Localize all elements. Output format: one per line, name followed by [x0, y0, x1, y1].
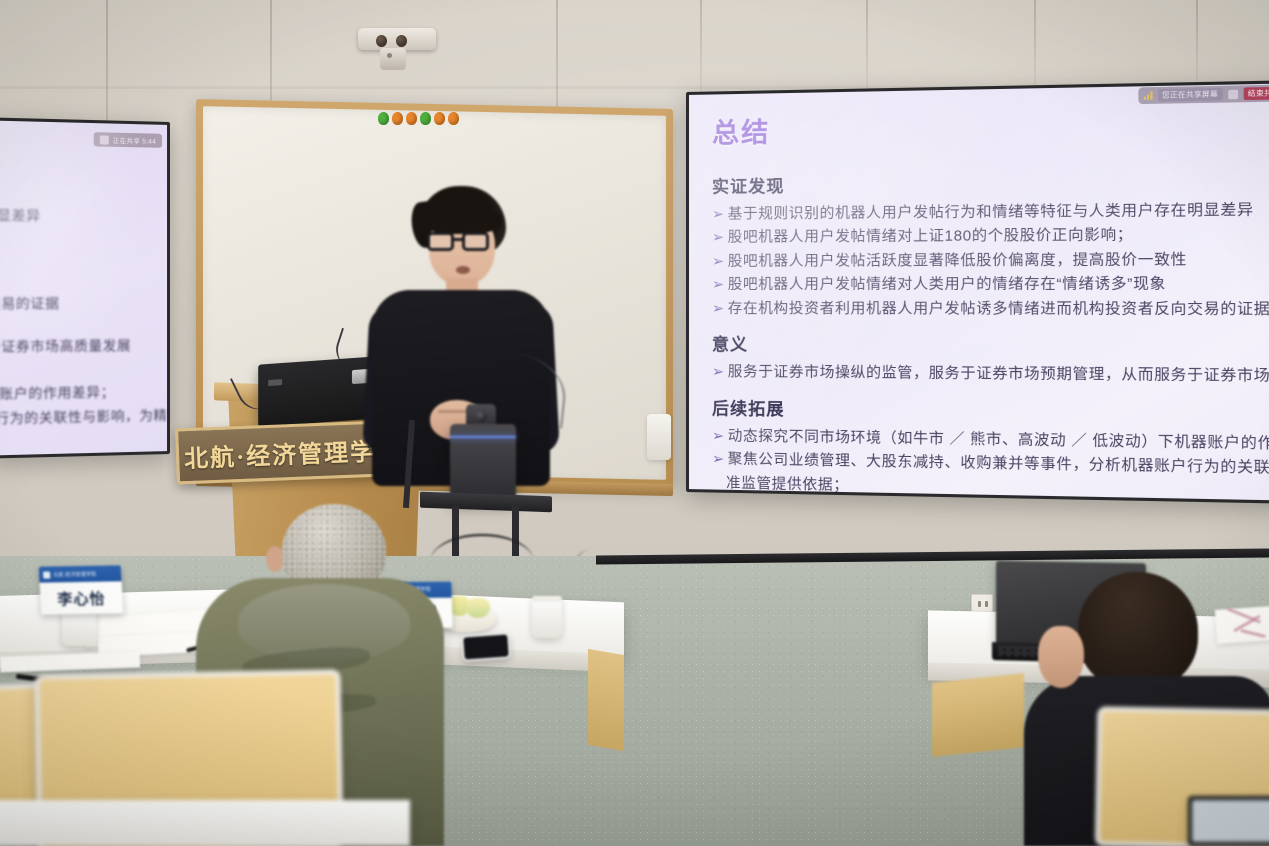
slide-bullet: ➢服务于证券市场操纵的监管，服务于证券市场预期管理，从而服务于证券市场 — [712, 362, 1269, 391]
tablet-device[interactable] — [1188, 796, 1269, 846]
presenter-fringe — [422, 204, 502, 234]
attendee-hand — [1038, 626, 1084, 688]
paper-cup[interactable] — [532, 596, 562, 638]
attendee-head — [1078, 572, 1198, 690]
slide-heading: 后续拓展 — [712, 394, 1269, 426]
magnet-icon[interactable] — [448, 112, 459, 125]
name-placard: 北航 经济管理学院 李心怡 — [39, 565, 124, 614]
slide-bullet: ➢基于规则识别的机器人用户发帖行为和情绪等特征与人类用户存在明显差异 — [712, 199, 1269, 228]
magnet-icon[interactable] — [392, 112, 403, 125]
slide-bullet: ➢股吧机器人用户发帖情绪对上证180的个股股价正向影响； — [712, 224, 1269, 251]
stop-share-button[interactable]: 结束共享 — [1243, 87, 1269, 100]
power-outlet[interactable] — [971, 594, 993, 612]
left-share-label: 正在共享 5:44 — [113, 135, 156, 146]
foreground-desk — [0, 800, 410, 846]
whiteboard-magnets[interactable] — [378, 112, 459, 125]
magnet-icon[interactable] — [434, 112, 445, 125]
left-slide-fragment: 向交易的证据 — [0, 292, 60, 313]
slide-bullet-text: 股吧机器人用户发帖活跃度显著降低股价偏离度，提高股价一致性 — [728, 252, 1187, 270]
slide-bullet-text: 服务于证券市场操纵的监管，服务于证券市场预期管理，从而服务于证券市场 — [728, 365, 1269, 386]
slide-bullet-text: 存在机构投资者利用机器人用户发帖诱多情绪进而机构投资者反向交易的证据 — [728, 301, 1269, 318]
bullet-marker-icon: ➢ — [712, 365, 725, 381]
eyeglasses-icon — [462, 232, 489, 251]
left-slide-fragment: 明显差异 — [0, 204, 41, 225]
placard-org-bar: 北航 经济管理学院 — [39, 565, 122, 583]
slide-heading: 意义 — [712, 331, 1269, 360]
slide-heading: 实证发现 — [712, 166, 1269, 198]
share-status-label: 您正在共享屏幕 — [1158, 88, 1223, 102]
screen-share-indicator[interactable]: 您正在共享屏幕 结束共享 — [1138, 84, 1269, 104]
eyeglasses-bridge — [454, 238, 464, 241]
slide-bullet-text: 股吧机器人用户发帖情绪对人类用户的情绪存在“情绪诱多”现象 — [728, 277, 1166, 294]
bullet-marker-icon: ➢ — [712, 301, 725, 317]
bullet-marker-icon: ➢ — [712, 230, 725, 246]
desk-wood-panel — [588, 649, 624, 751]
smartphone[interactable] — [461, 632, 511, 661]
right-desk-panel — [932, 673, 1024, 757]
bullet-marker-icon: ➢ — [712, 452, 725, 468]
slide-body: 总结 实证发现 ➢基于规则识别的机器人用户发帖行为和情绪等特征与人类用户存在明显… — [712, 95, 1269, 498]
camera-mount — [380, 48, 406, 70]
eyeglasses-icon — [427, 232, 454, 251]
main-projection-screen: 您正在共享屏幕 结束共享 总结 实证发现 ➢基于规则识别的机器人用户发帖行为和情… — [686, 80, 1269, 504]
ceiling-camera — [358, 28, 436, 72]
pastry — [466, 598, 490, 618]
laptop-logo-icon — [268, 379, 282, 386]
magnet-icon[interactable] — [406, 112, 417, 125]
bullet-marker-icon: ➢ — [712, 254, 725, 270]
speaker-icon — [100, 135, 109, 144]
slide-bullet: ➢股吧机器人用户发帖情绪对人类用户的情绪存在“情绪诱多”现象 — [712, 273, 1269, 298]
slide-bullet: ➢存在机构投资者利用机器人用户发帖诱多情绪进而机构投资者反向交易的证据 — [712, 298, 1269, 323]
left-share-chip: 正在共享 5:44 — [94, 132, 163, 148]
left-slide-content: 正在共享 5:44 明显差异 义 向交易的证据 务于证券市场高质量发展 机器账户… — [0, 117, 170, 458]
presenter-mouth — [456, 266, 470, 274]
slide-bullet-text: 基于规则识别的机器人用户发帖行为和情绪等特征与人类用户存在明显差异 — [728, 202, 1254, 222]
cloud-icon — [1228, 89, 1238, 99]
signal-bars-icon — [1143, 91, 1152, 100]
conference-speaker — [450, 424, 516, 504]
university-logo-icon — [43, 571, 50, 578]
bullet-marker-icon: ➢ — [712, 428, 725, 444]
placard-org-label: 北航 经济管理学院 — [53, 570, 97, 578]
slide-bullet-text: 动态探究不同市场环境（如牛市 ／ 熊市、高波动 ／ 低波动）下机器账户的作 — [728, 428, 1269, 452]
classroom-photo: 正在共享 5:44 明显差异 义 向交易的证据 务于证券市场高质量发展 机器账户… — [0, 0, 1269, 846]
camera-lens-icon — [376, 35, 387, 47]
wall-sensor-box — [647, 414, 671, 460]
left-slide-fragment: 务于证券市场高质量发展 — [0, 334, 131, 356]
bullet-marker-icon: ➢ — [712, 277, 725, 293]
magnet-icon[interactable] — [378, 112, 389, 125]
slide-bullet-text: 股吧机器人用户发帖情绪对上证180的个股股价正向影响； — [728, 228, 1133, 246]
slide-bullet: ➢股吧机器人用户发帖活跃度显著降低股价偏离度，提高股价一致性 — [712, 249, 1269, 275]
camera-lens-icon — [396, 35, 407, 47]
magnet-icon[interactable] — [420, 112, 431, 125]
left-slide-fragment: 机器账户的作用差异； — [0, 381, 115, 404]
left-projection-screen: 正在共享 5:44 明显差异 义 向交易的证据 务于证券市场高质量发展 机器账户… — [0, 117, 170, 458]
slide-title: 总结 — [712, 101, 1269, 150]
placard-name-text: 李心怡 — [40, 582, 124, 615]
left-slide-fragment: 账户行为的关联性与影响，为精 — [0, 404, 167, 428]
bullet-marker-icon: ➢ — [712, 207, 725, 223]
